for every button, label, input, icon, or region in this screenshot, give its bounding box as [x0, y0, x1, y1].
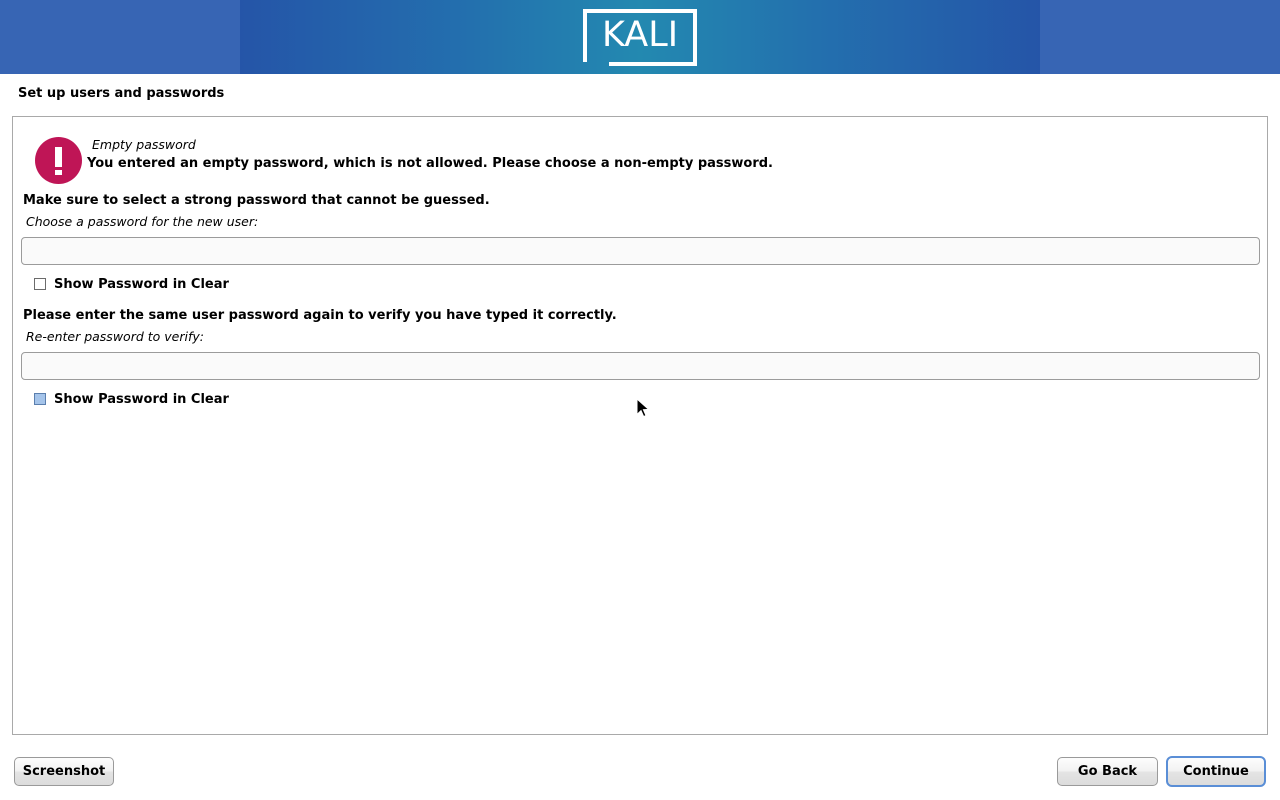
password-input[interactable]: [21, 237, 1260, 265]
verify-section-heading: Please enter the same user password agai…: [23, 308, 617, 323]
password-field-label: Choose a password for the new user:: [26, 214, 258, 229]
show-password-label-1: Show Password in Clear: [54, 277, 229, 292]
error-message: You entered an empty password, which is …: [87, 156, 773, 171]
logo-frame-bottom: [609, 62, 697, 66]
show-password-checkbox-2[interactable]: [34, 393, 46, 405]
main-content-panel: Empty password You entered an empty pass…: [12, 116, 1268, 735]
page-title: Set up users and passwords: [18, 86, 224, 101]
kali-header-banner: KALI: [0, 0, 1280, 74]
kali-logo: KALI: [583, 9, 697, 66]
exclamation-dot: [55, 170, 62, 175]
verify-field-label: Re-enter password to verify:: [26, 329, 204, 344]
go-back-button[interactable]: Go Back: [1057, 757, 1158, 786]
exclamation-bar: [55, 147, 62, 167]
verify-password-input[interactable]: [21, 352, 1260, 380]
error-exclamation-icon: [35, 137, 82, 184]
screenshot-button[interactable]: Screenshot: [14, 757, 114, 786]
continue-button[interactable]: Continue: [1166, 756, 1266, 787]
show-password-checkbox-1[interactable]: [34, 278, 46, 290]
password-section-heading: Make sure to select a strong password th…: [23, 193, 490, 208]
kali-wordmark: KALI: [583, 9, 697, 62]
show-password-label-2: Show Password in Clear: [54, 392, 229, 407]
error-block: Empty password You entered an empty pass…: [23, 126, 1253, 188]
error-title: Empty password: [92, 137, 196, 152]
